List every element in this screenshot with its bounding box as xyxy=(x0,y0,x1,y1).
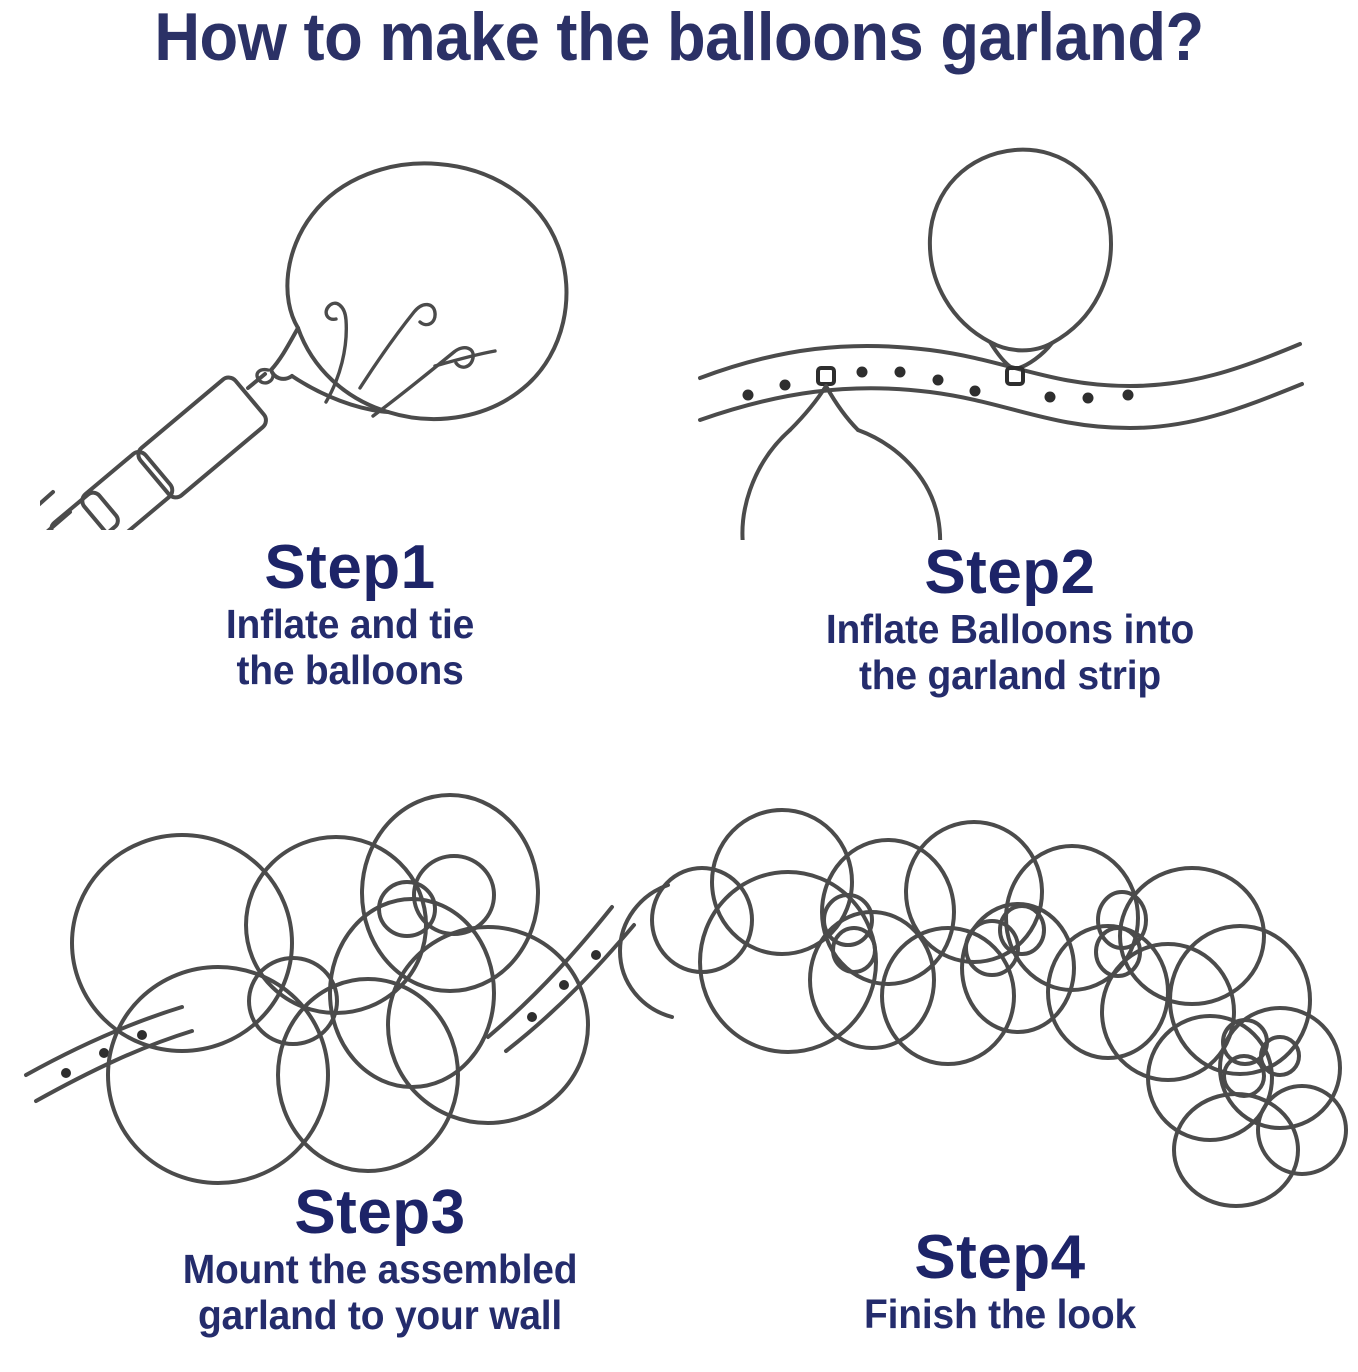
instruction-poster: How to make the balloons garland? xyxy=(0,0,1358,1372)
step-1-illustration xyxy=(40,120,660,530)
step-2-name: Step2 xyxy=(690,540,1330,606)
step-1-labels: Step1 Inflate and tie the balloons xyxy=(40,535,660,693)
step-1-name: Step1 xyxy=(40,535,660,601)
step-3-desc-line-1: Mount the assembled xyxy=(114,1246,646,1292)
step-2-illustration xyxy=(690,110,1330,540)
step-3-illustration xyxy=(20,745,700,1185)
page-title: How to make the balloons garland? xyxy=(48,2,1311,72)
step-4-name: Step4 xyxy=(740,1225,1260,1291)
step-1-desc-line-2: the balloons xyxy=(56,647,645,693)
step-1-desc-line-1: Inflate and tie xyxy=(56,601,645,647)
step-3-labels: Step3 Mount the assembled garland to you… xyxy=(100,1180,660,1338)
step-3-name: Step3 xyxy=(100,1180,660,1246)
step-2-labels: Step2 Inflate Balloons into the garland … xyxy=(690,540,1330,698)
step-2-desc-line-1: Inflate Balloons into xyxy=(706,606,1314,652)
step-4-description: Finish the look xyxy=(753,1291,1247,1337)
step-2-desc-line-2: the garland strip xyxy=(706,652,1314,698)
step-4-illustration xyxy=(640,800,1350,1220)
step-3-description: Mount the assembled garland to your wall xyxy=(114,1246,646,1338)
step-2-description: Inflate Balloons into the garland strip xyxy=(706,606,1314,698)
step-3-desc-line-2: garland to your wall xyxy=(114,1292,646,1338)
step-1-description: Inflate and tie the balloons xyxy=(56,601,645,693)
step-4-labels: Step4 Finish the look xyxy=(740,1225,1260,1337)
step-4-desc-line-1: Finish the look xyxy=(753,1291,1247,1337)
